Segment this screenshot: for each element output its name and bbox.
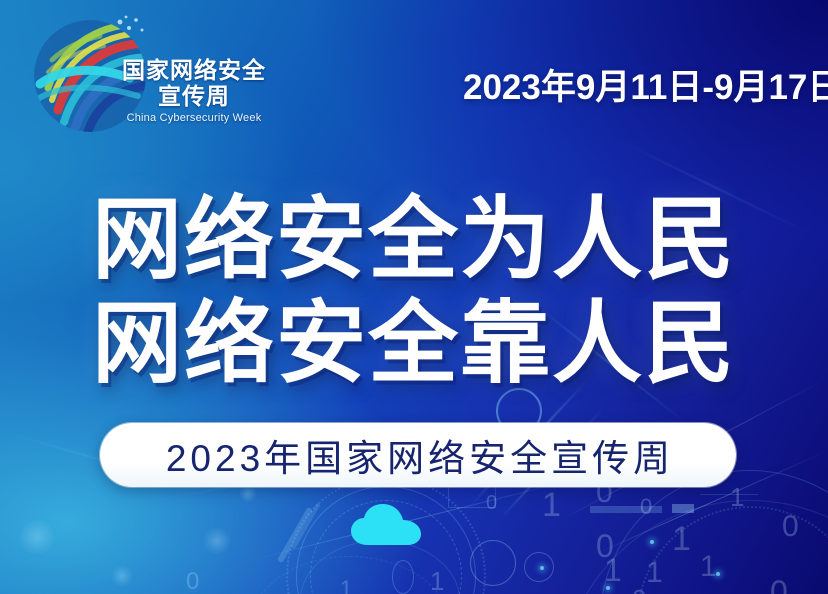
logo: 国家网络安全 宣传周 China Cybersecurity Week bbox=[34, 14, 266, 140]
headline-line-2: 网络安全靠人民 bbox=[0, 292, 828, 396]
network-node bbox=[606, 586, 610, 590]
binary-digit: 1 bbox=[700, 550, 717, 584]
binary-digit: 0 bbox=[632, 584, 646, 594]
event-date: 2023年9月11日-9月17日 bbox=[463, 59, 828, 110]
bokeh-dot bbox=[204, 528, 230, 554]
cloud-icon bbox=[350, 503, 422, 547]
logo-title-line1: 国家网络安全 bbox=[120, 58, 268, 83]
bokeh-dot bbox=[240, 486, 256, 502]
logo-text-block: 国家网络安全 宣传周 China Cybersecurity Week bbox=[120, 58, 268, 126]
bokeh-dot bbox=[20, 520, 54, 554]
circuit-bar bbox=[590, 506, 662, 513]
cybersecurity-week-poster: 1 0 0 1 0 1 0 1 1 1 0 1 0 0 1 0 bbox=[0, 0, 828, 594]
globe-arc bbox=[560, 500, 828, 594]
globe-arc-dotted bbox=[636, 506, 828, 594]
headline-block: 网络安全为人民 网络安全靠人民 bbox=[0, 188, 828, 396]
binary-digit: 1 bbox=[730, 482, 744, 513]
binary-digit: 0 bbox=[640, 494, 652, 520]
tech-ring-small bbox=[392, 560, 414, 594]
circuit-bar bbox=[672, 504, 694, 513]
binary-digit: 0 bbox=[596, 528, 614, 565]
binary-digit: 1 bbox=[646, 556, 663, 590]
globe-arc bbox=[600, 470, 828, 594]
network-node bbox=[716, 572, 720, 576]
slant-bar bbox=[277, 507, 313, 564]
circuit-outline bbox=[700, 494, 758, 495]
binary-digit: 0 bbox=[770, 574, 788, 594]
subtitle-text: 2023年国家网络安全宣传周 bbox=[162, 428, 674, 482]
binary-digit: 1 bbox=[340, 576, 352, 594]
network-node bbox=[540, 566, 544, 570]
mesh-globe bbox=[250, 556, 450, 594]
binary-digit: 0 bbox=[486, 492, 497, 515]
binary-digit: 1 bbox=[604, 552, 622, 589]
headline-line-1: 网络安全为人民 bbox=[0, 188, 828, 292]
binary-digit: 1 bbox=[430, 566, 444, 594]
binary-digit: 0 bbox=[186, 568, 199, 594]
logo-subtitle-en: China Cybersecurity Week bbox=[120, 111, 268, 126]
binary-digit: 1 bbox=[672, 520, 691, 559]
subtitle-pill: 2023年国家网络安全宣传周 bbox=[100, 423, 736, 487]
logo-title-line2: 宣传周 bbox=[120, 83, 268, 110]
slant-bar bbox=[291, 502, 320, 549]
bokeh-dot bbox=[112, 566, 132, 586]
network-node bbox=[650, 540, 654, 544]
binary-digit: 0 bbox=[782, 510, 799, 544]
mesh-globe bbox=[300, 540, 460, 594]
binary-digit: 1 bbox=[542, 486, 561, 525]
tech-ring-small bbox=[470, 540, 516, 586]
tech-ring-small bbox=[524, 552, 554, 582]
